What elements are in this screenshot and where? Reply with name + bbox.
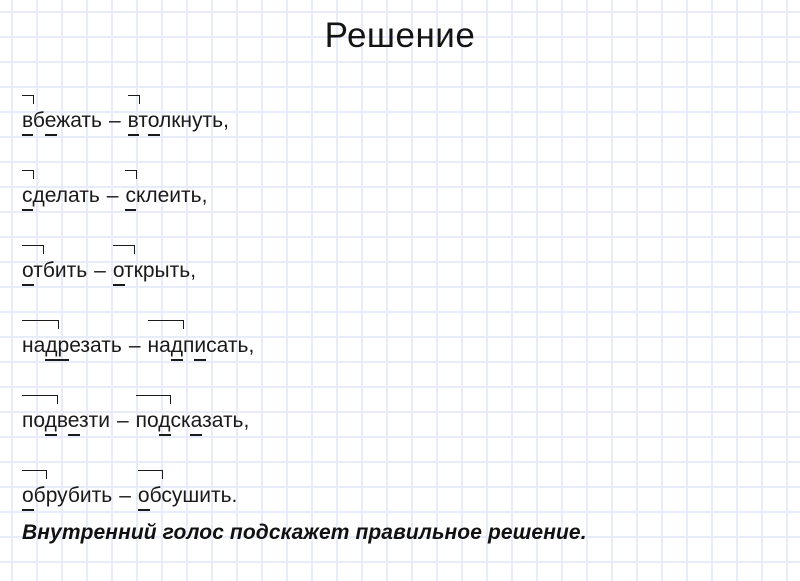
worksheet-page: Решение вбежать–втолкнуть,сделать–склеит… [0, 0, 800, 581]
word-text: надписать [148, 335, 249, 356]
word-text: открыть [113, 260, 190, 281]
prefix-bracket-icon [22, 95, 34, 104]
letter-underline-mark [45, 134, 57, 136]
row-punctuation: , [248, 313, 254, 356]
prefix-bracket-icon [22, 470, 47, 479]
letter-underline-mark [125, 209, 136, 211]
prefix-bracket-icon [148, 320, 185, 329]
letter-underline-mark [194, 359, 206, 361]
letter-underline-mark [148, 134, 160, 136]
pair-separator-dash: – [102, 88, 128, 131]
prefix-bracket-icon [22, 320, 59, 329]
word-pair-list: вбежать–втолкнуть,сделать–склеить,отбить… [22, 88, 254, 538]
prefix-bracket-icon [113, 245, 135, 254]
letter-underline-mark [22, 134, 33, 136]
word-right: надписать [148, 313, 249, 356]
word-pair-row: вбежать–втолкнуть, [22, 88, 254, 163]
letter-underline-mark [22, 209, 33, 211]
pair-separator-dash: – [110, 388, 136, 431]
word-pair-row: подвезти–подсказать, [22, 388, 254, 463]
letter-underline-mark [171, 359, 183, 361]
word-left: отбить [22, 238, 87, 281]
word-left: вбежать [22, 88, 102, 131]
pair-separator-dash: – [100, 163, 126, 206]
word-left: надрезать [22, 313, 122, 356]
prefix-bracket-icon [128, 95, 140, 104]
letter-underline-mark [22, 509, 34, 511]
word-right: обсушить [138, 463, 232, 506]
word-text: склеить [125, 185, 201, 206]
word-pair-row: отбить–открыть, [22, 238, 254, 313]
letter-underline-mark [113, 284, 125, 286]
row-punctuation: , [223, 88, 229, 131]
letter-underline-mark [58, 359, 70, 361]
row-punctuation: . [232, 463, 238, 506]
word-left: подвезти [22, 388, 110, 431]
word-text: обрубить [22, 485, 112, 506]
word-text: подсказать [136, 410, 244, 431]
pair-separator-dash: – [112, 463, 138, 506]
word-pair-row: сделать–склеить, [22, 163, 254, 238]
word-text: втолкнуть [128, 110, 223, 131]
prefix-bracket-icon [22, 170, 34, 179]
prefix-bracket-icon [136, 395, 172, 404]
letter-underline-mark [45, 359, 57, 361]
word-text: отбить [22, 260, 87, 281]
word-right: открыть [113, 238, 190, 281]
word-text: подвезти [22, 410, 110, 431]
prefix-bracket-icon [138, 470, 163, 479]
row-punctuation: , [202, 163, 208, 206]
word-text: обсушить [138, 485, 232, 506]
word-left: сделать [22, 163, 100, 206]
word-right: втолкнуть [128, 88, 223, 131]
pair-separator-dash: – [122, 313, 148, 356]
word-pair-row: надрезать–надписать, [22, 313, 254, 388]
prefix-bracket-icon [125, 170, 137, 179]
row-punctuation: , [190, 238, 196, 281]
row-punctuation: , [244, 388, 250, 431]
word-text: вбежать [22, 110, 102, 131]
pair-separator-dash: – [87, 238, 113, 281]
word-text: сделать [22, 185, 100, 206]
letter-underline-mark [22, 284, 34, 286]
prefix-bracket-icon [22, 395, 58, 404]
page-title: Решение [0, 14, 800, 58]
closing-sentence: Внутренний голос подскажет правильное ре… [22, 519, 587, 547]
letter-underline-mark [190, 434, 202, 436]
word-right: склеить [125, 163, 201, 206]
letter-underline-mark [138, 509, 150, 511]
letter-underline-mark [128, 134, 139, 136]
letter-underline-mark [159, 434, 171, 436]
word-left: обрубить [22, 463, 112, 506]
word-right: подсказать [136, 388, 244, 431]
letter-underline-mark [45, 434, 57, 436]
letter-underline-mark [68, 434, 80, 436]
word-text: надрезать [22, 335, 122, 356]
prefix-bracket-icon [22, 245, 44, 254]
